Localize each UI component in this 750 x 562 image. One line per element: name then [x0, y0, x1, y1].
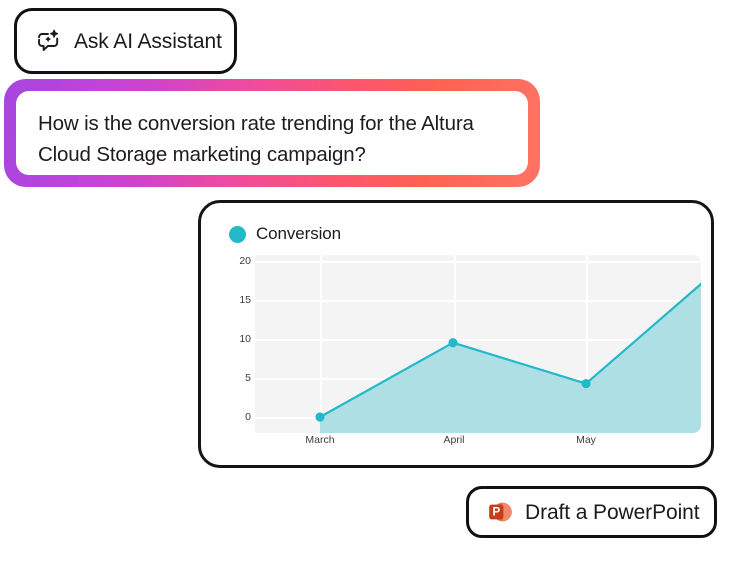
x-tick-label: May [576, 435, 596, 446]
x-axis: March April May [255, 435, 701, 451]
ask-ai-assistant-label: Ask AI Assistant [74, 31, 222, 52]
y-tick-label: 15 [239, 295, 251, 306]
draft-powerpoint-label: Draft a PowerPoint [525, 502, 699, 523]
chat-sparkle-icon [35, 27, 63, 55]
chart-legend: Conversion [217, 217, 695, 251]
chart-plot-region: 20 15 10 5 0 [217, 255, 701, 449]
y-axis: 20 15 10 5 0 [217, 255, 251, 421]
x-tick-label: March [305, 435, 334, 446]
y-tick-label: 10 [239, 334, 251, 345]
y-tick-label: 0 [245, 412, 251, 423]
prompt-card-gradient-border: How is the conversion rate trending for … [4, 79, 540, 187]
conversion-chart-card: Conversion 20 15 10 5 0 [198, 200, 714, 468]
data-point-April[interactable] [448, 338, 457, 347]
y-tick-label: 20 [239, 256, 251, 267]
y-tick-label: 5 [245, 373, 251, 384]
x-tick-label: April [443, 435, 464, 446]
draft-powerpoint-button[interactable]: P Draft a PowerPoint [466, 486, 717, 538]
data-point-March[interactable] [315, 412, 324, 421]
svg-text:P: P [492, 507, 500, 519]
screen-root: Ask AI Assistant How is the conversion r… [0, 0, 750, 562]
chart-series-svg [255, 255, 701, 433]
powerpoint-icon: P [487, 499, 513, 525]
data-point-May[interactable] [581, 379, 590, 388]
chart-plot-area [255, 255, 701, 433]
legend-color-dot [229, 226, 246, 243]
legend-label: Conversion [256, 224, 341, 244]
prompt-text: How is the conversion rate trending for … [38, 108, 506, 170]
ask-ai-assistant-button[interactable]: Ask AI Assistant [14, 8, 237, 74]
area-fill [320, 268, 701, 433]
prompt-card[interactable]: How is the conversion rate trending for … [16, 91, 528, 175]
